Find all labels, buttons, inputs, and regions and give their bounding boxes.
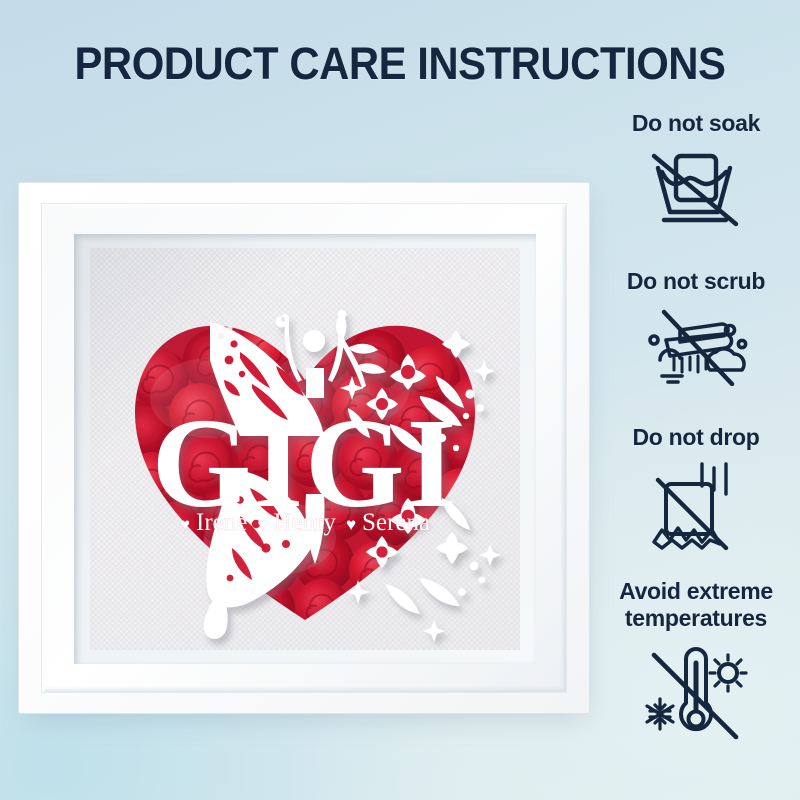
product-care-instructions-page: PRODUCT CARE INSTRUCTIONS [0, 0, 800, 800]
page-title: PRODUCT CARE INSTRUCTIONS [28, 38, 772, 90]
frame-moulding: GIGI ♥Irene♥Henry♥Serena [18, 182, 590, 714]
care-item-do-not-soak: Do not soak [592, 110, 800, 230]
care-label-do-not-soak: Do not soak [592, 110, 800, 137]
care-instructions-list: Do not soak Do not scrub [592, 110, 800, 800]
names-band: ♥Irene♥Henry♥Serena [180, 509, 430, 536]
no-extreme-temperature-icon [592, 641, 800, 747]
artwork-canvas: GIGI ♥Irene♥Henry♥Serena [90, 248, 520, 650]
frame-backing: GIGI ♥Irene♥Henry♥Serena [90, 248, 520, 650]
care-item-avoid-extreme-temperatures: Avoid extreme temperatures [592, 578, 800, 747]
care-label-line-2: temperatures [592, 605, 800, 632]
care-label-avoid-extreme-temperatures: Avoid extreme temperatures [592, 578, 800, 632]
care-label-line-1: Avoid extreme [592, 578, 800, 605]
care-label-do-not-scrub: Do not scrub [592, 268, 800, 295]
no-scrub-icon [592, 304, 800, 386]
shadow-box-frame: GIGI ♥Irene♥Henry♥Serena [18, 182, 590, 717]
care-label-do-not-drop: Do not drop [592, 424, 800, 451]
svg-text:♥Irene♥Henry♥Serena: ♥Irene♥Henry♥Serena [180, 509, 430, 536]
no-soak-icon [592, 146, 800, 230]
care-item-do-not-drop: Do not drop [592, 424, 800, 556]
care-item-do-not-scrub: Do not scrub [592, 268, 800, 386]
no-drop-icon [592, 460, 800, 556]
